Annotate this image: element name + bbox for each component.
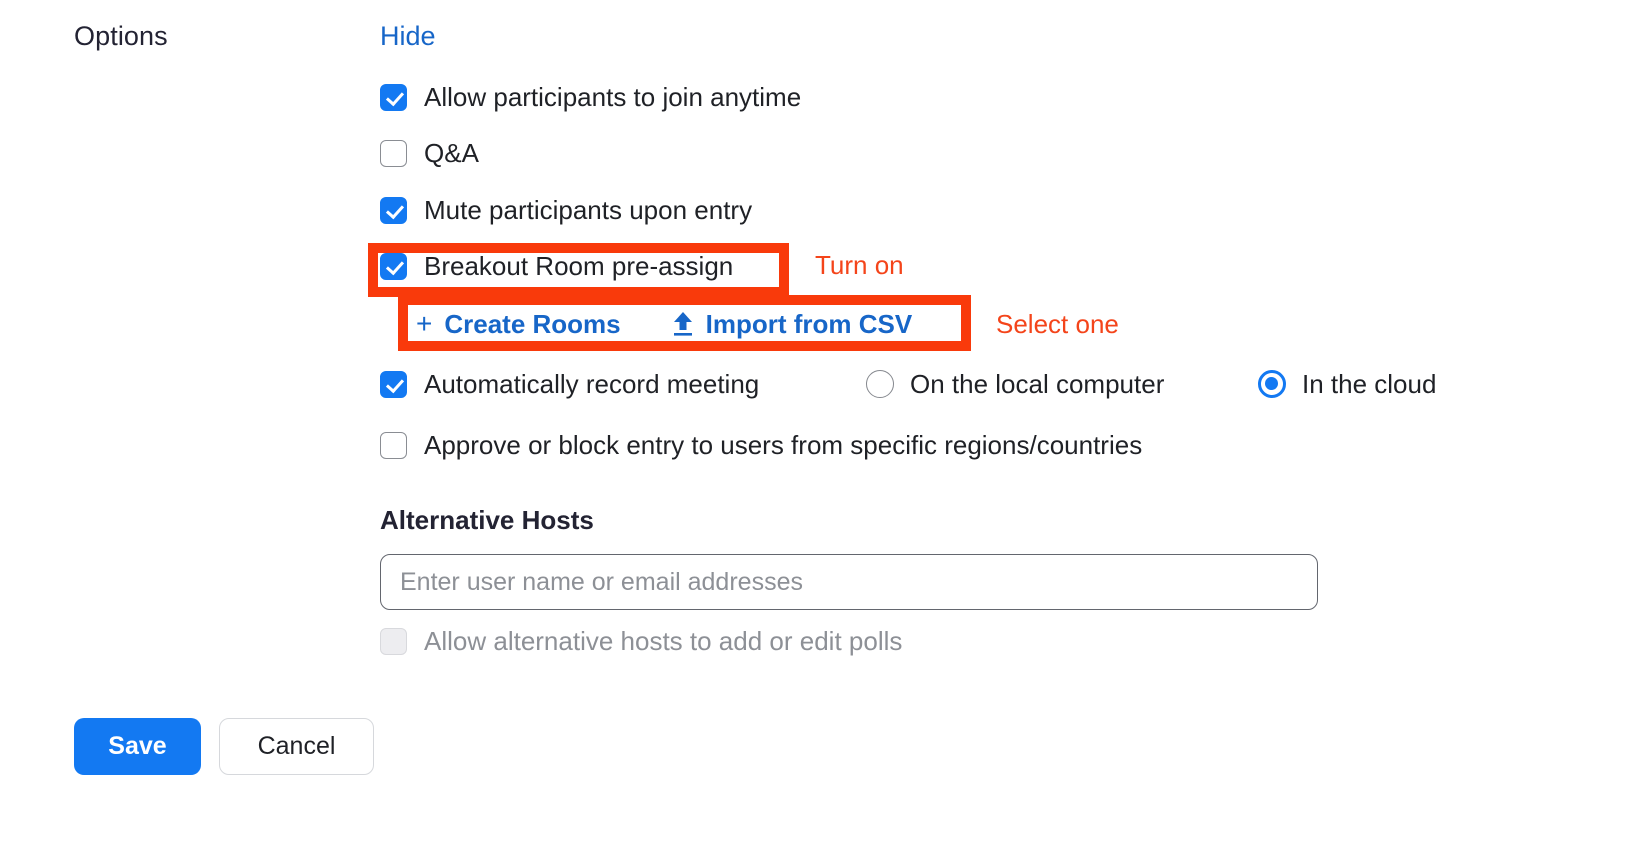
radio-option-in-the-cloud[interactable]: In the cloud bbox=[1258, 369, 1436, 399]
create-rooms-button[interactable]: + Create Rooms bbox=[416, 309, 621, 340]
hide-options-link[interactable]: Hide bbox=[380, 20, 436, 53]
checkbox-alt-hosts-edit-polls bbox=[380, 628, 407, 655]
checkbox-breakout-preassign[interactable] bbox=[380, 253, 407, 280]
save-button[interactable]: Save bbox=[74, 718, 201, 775]
create-rooms-label: Create Rooms bbox=[444, 309, 620, 340]
option-row-auto-record[interactable]: Automatically record meeting bbox=[380, 369, 759, 399]
option-row-mute-on-entry[interactable]: Mute participants upon entry bbox=[380, 195, 752, 225]
radio-label-local-computer: On the local computer bbox=[910, 369, 1164, 399]
alternative-hosts-input[interactable] bbox=[380, 554, 1318, 610]
radio-local-computer[interactable] bbox=[866, 370, 894, 398]
breakout-subactions: + Create Rooms Import from CSV bbox=[416, 306, 912, 342]
option-label-join-anytime: Allow participants to join anytime bbox=[424, 82, 801, 112]
option-row-join-anytime[interactable]: Allow participants to join anytime bbox=[380, 82, 801, 112]
options-panel: Options Hide Allow participants to join … bbox=[0, 0, 1640, 844]
import-from-csv-label: Import from CSV bbox=[706, 309, 913, 340]
option-row-qa[interactable]: Q&A bbox=[380, 138, 479, 168]
radio-option-local-computer[interactable]: On the local computer bbox=[866, 369, 1164, 399]
annotation-select-one: Select one bbox=[996, 309, 1119, 339]
annotation-turn-on: Turn on bbox=[815, 250, 904, 280]
option-label-auto-record: Automatically record meeting bbox=[424, 369, 759, 399]
form-footer: Save Cancel bbox=[74, 718, 374, 775]
option-label-approve-block-entry: Approve or block entry to users from spe… bbox=[424, 430, 1142, 460]
option-label-mute-on-entry: Mute participants upon entry bbox=[424, 195, 752, 225]
checkbox-auto-record[interactable] bbox=[380, 371, 407, 398]
option-row-alt-hosts-edit-polls: Allow alternative hosts to add or edit p… bbox=[380, 626, 902, 656]
option-label-breakout-preassign: Breakout Room pre-assign bbox=[424, 251, 733, 281]
checkbox-qa[interactable] bbox=[380, 140, 407, 167]
radio-in-the-cloud[interactable] bbox=[1258, 370, 1286, 398]
upload-icon bbox=[671, 311, 695, 337]
option-label-qa: Q&A bbox=[424, 138, 479, 168]
alternative-hosts-title: Alternative Hosts bbox=[380, 505, 594, 536]
checkbox-mute-on-entry[interactable] bbox=[380, 197, 407, 224]
options-section-label: Options bbox=[74, 20, 168, 53]
option-row-approve-block-entry[interactable]: Approve or block entry to users from spe… bbox=[380, 430, 1142, 460]
radio-label-in-the-cloud: In the cloud bbox=[1302, 369, 1436, 399]
checkbox-join-anytime[interactable] bbox=[380, 84, 407, 111]
cancel-button[interactable]: Cancel bbox=[219, 718, 374, 775]
plus-icon: + bbox=[416, 310, 432, 338]
option-row-breakout-preassign[interactable]: Breakout Room pre-assign bbox=[380, 251, 733, 281]
import-from-csv-button[interactable]: Import from CSV bbox=[671, 309, 913, 340]
checkbox-approve-block-entry[interactable] bbox=[380, 432, 407, 459]
option-label-alt-hosts-edit-polls: Allow alternative hosts to add or edit p… bbox=[424, 626, 902, 656]
